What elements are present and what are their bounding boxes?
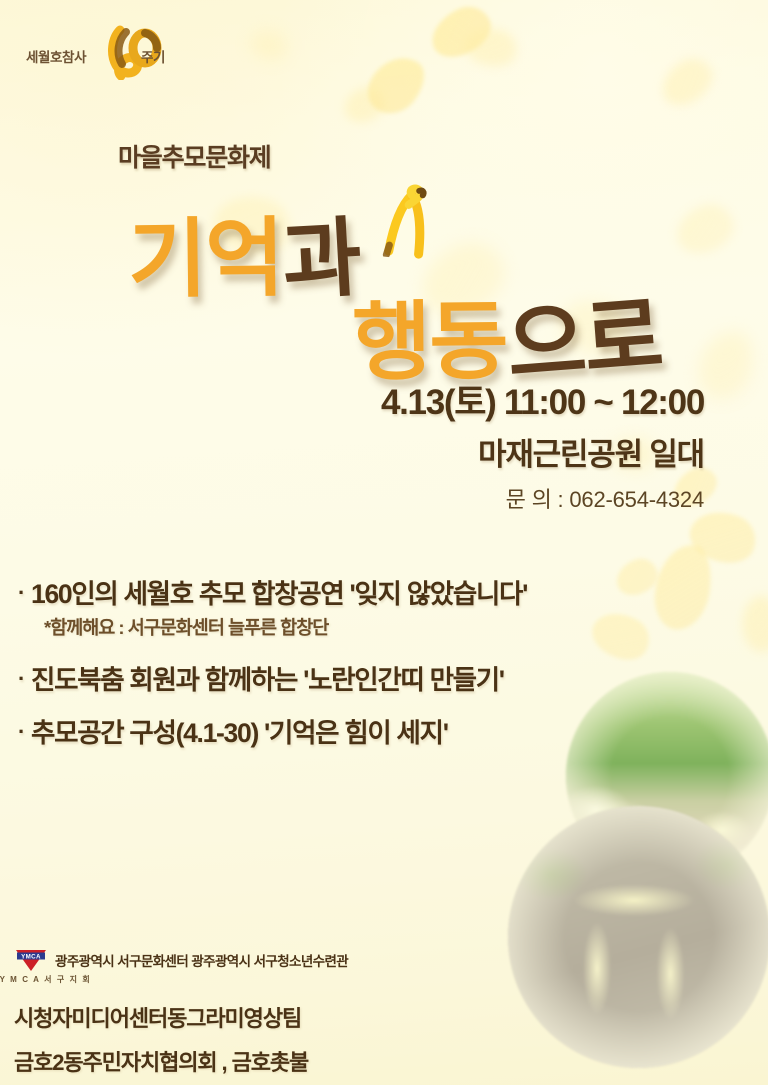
petal-decoration — [460, 21, 521, 73]
event-contact-label: 문 의 : 062-654-4324 — [381, 482, 704, 514]
organizer-line-2-label: 금호2동주민자치협의회 , 금호촛불 — [14, 1045, 574, 1077]
host-names: 광주광역시 서구문화센터 광주광역시 서구청소년수련관 — [55, 950, 348, 970]
title-word-memory: 기억 — [127, 188, 283, 315]
list-item: · 160인의 세월호 추모 합창공연 '잊지 않았습니다' — [18, 578, 740, 610]
host-row: YMCA 광주광역시 서구문화센터 광주광역시 서구청소년수련관 — [14, 947, 574, 973]
petal-decoration — [737, 593, 768, 655]
organizer-line-1-label: 시청자미디어센터동그라미영상팀 — [14, 1001, 574, 1033]
bullet-icon: · — [18, 664, 24, 694]
footer-organizers: YMCA 광주광역시 서구문화센터 광주광역시 서구청소년수련관 광 주 Y M… — [14, 947, 574, 1077]
petal-decoration — [654, 51, 721, 113]
anniversary-logo: 세월호참사 주기 — [26, 22, 216, 84]
poster-title: 기억과 행동으로 — [0, 182, 768, 372]
svg-text:YMCA: YMCA — [21, 953, 41, 960]
ymca-logo-icon: YMCA — [14, 947, 48, 973]
title-word-with: 으로 — [502, 265, 665, 401]
anniversary-suffix-label: 주기 — [141, 46, 165, 66]
title-line-1: 기억과 — [126, 186, 362, 320]
program-item-2-label: 진도북춤 회원과 함께하는 '노란인간띠 만들기' — [31, 664, 504, 696]
host-line-label: 광주광역시 서구문화센터 광주광역시 서구청소년수련관 — [55, 950, 348, 970]
event-datetime-label: 4.13(토) 11:00 ~ 12:00 — [381, 382, 704, 423]
program-list: · 160인의 세월호 추모 합창공연 '잊지 않았습니다' *함께해요 : 서… — [18, 578, 740, 749]
list-item: · 진도북춤 회원과 함께하는 '노란인간띠 만들기' — [18, 664, 740, 696]
title-word-action: 행동 — [351, 271, 507, 398]
ymca-caption-label: 광 주 Y M C A 서 구 지 회 — [0, 974, 574, 985]
bullet-icon: · — [18, 717, 24, 747]
list-item: · 추모공간 구성(4.1-30) '기억은 힘이 세지' — [18, 717, 740, 749]
petal-decoration — [358, 46, 433, 124]
petal-decoration — [245, 23, 293, 67]
petal-decoration — [424, 0, 499, 65]
bullet-icon: · — [18, 578, 24, 608]
petal-decoration — [341, 84, 387, 126]
program-item-3-label: 추모공간 구성(4.1-30) '기억은 힘이 세지' — [31, 717, 448, 749]
festival-kicker-label: 마을추모문화제 — [118, 138, 271, 174]
program-item-1-note: *함께해요 : 서구문화센터 늘푸른 합창단 — [44, 614, 740, 640]
memorial-event-poster: 세월호참사 주기 마을추모문화제 기억과 행동으로 4.13(토) 11:00 … — [0, 0, 768, 1085]
program-entry: · 160인의 세월호 추모 합창공연 '잊지 않았습니다' *함께해요 : 서… — [18, 578, 740, 640]
yellow-ribbon-icon — [382, 181, 436, 261]
event-place-label: 마재근린공원 일대 — [381, 429, 704, 474]
anniversary-prefix-label: 세월호참사 — [26, 46, 86, 66]
program-item-1-label: 160인의 세월호 추모 합창공연 '잊지 않았습니다' — [31, 578, 527, 610]
event-info-block: 4.13(토) 11:00 ~ 12:00 마재근린공원 일대 문 의 : 06… — [381, 382, 704, 514]
